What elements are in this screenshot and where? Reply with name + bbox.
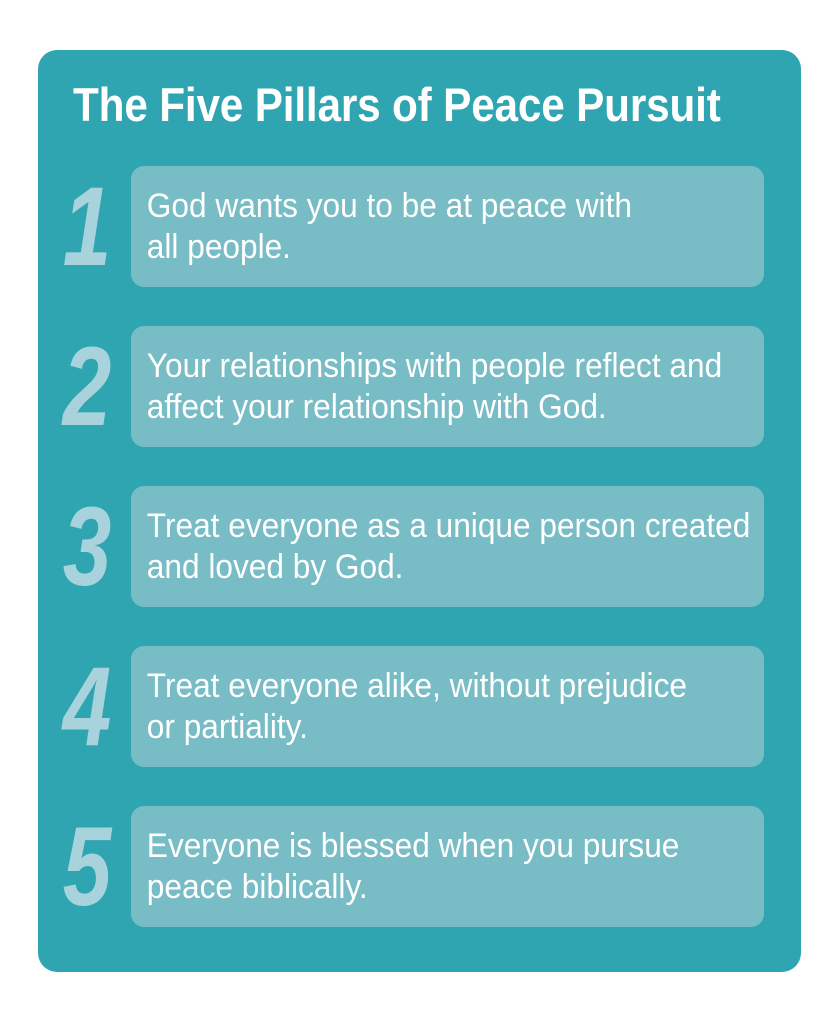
pillar-text-5-line-1: Everyone is blessed when you pursue — [147, 826, 707, 867]
list-item-pillar-4: 4 Treat everyone alike, without prejudic… — [38, 646, 801, 767]
pillar-text-5: Everyone is blessed when you pursue peac… — [131, 826, 720, 908]
infographic-poster: The Five Pillars of Peace Pursuit 1 God … — [0, 0, 838, 1024]
pillar-text-2-line-1: Your relationships with people reflect a… — [147, 346, 707, 387]
pillar-card-5: Everyone is blessed when you pursue peac… — [131, 806, 764, 927]
pillar-text-5-line-2: peace biblically. — [147, 867, 707, 908]
pillar-text-1: God wants you to be at peace with all pe… — [131, 186, 720, 268]
pillar-card-1: God wants you to be at peace with all pe… — [131, 166, 764, 287]
pillar-number-1: 1 — [57, 166, 118, 287]
pillar-number-5: 5 — [57, 806, 118, 927]
pillar-text-4: Treat everyone alike, without prejudice … — [131, 666, 720, 748]
pillar-card-2: Your relationships with people reflect a… — [131, 326, 764, 447]
pillar-number-4: 4 — [57, 646, 118, 767]
pillar-text-1-line-1: God wants you to be at peace with — [147, 186, 707, 227]
pillar-number-3: 3 — [57, 486, 118, 607]
pillar-text-4-line-1: Treat everyone alike, without prejudice — [147, 666, 707, 707]
pillar-text-4-line-2: or partiality. — [147, 707, 707, 748]
poster-panel: The Five Pillars of Peace Pursuit 1 God … — [38, 50, 801, 972]
list-item-pillar-2: 2 Your relationships with people reflect… — [38, 326, 801, 447]
pillar-number-2: 2 — [57, 326, 118, 447]
page-title: The Five Pillars of Peace Pursuit — [73, 77, 703, 133]
pillar-text-2: Your relationships with people reflect a… — [131, 346, 720, 428]
list-item-pillar-5: 5 Everyone is blessed when you pursue pe… — [38, 806, 801, 927]
list-item-pillar-3: 3 Treat everyone as a unique person crea… — [38, 486, 801, 607]
list-item-pillar-1: 1 God wants you to be at peace with all … — [38, 166, 801, 287]
pillar-text-1-line-2: all people. — [147, 227, 707, 268]
pillar-card-4: Treat everyone alike, without prejudice … — [131, 646, 764, 767]
pillar-text-3-line-1: Treat everyone as a unique person create… — [147, 506, 707, 547]
pillar-card-3: Treat everyone as a unique person create… — [131, 486, 764, 607]
pillar-text-3-line-2: and loved by God. — [147, 547, 707, 588]
pillar-text-3: Treat everyone as a unique person create… — [131, 506, 720, 588]
pillars-list: 1 God wants you to be at peace with all … — [38, 166, 801, 927]
pillar-text-2-line-2: affect your relationship with God. — [147, 387, 707, 428]
